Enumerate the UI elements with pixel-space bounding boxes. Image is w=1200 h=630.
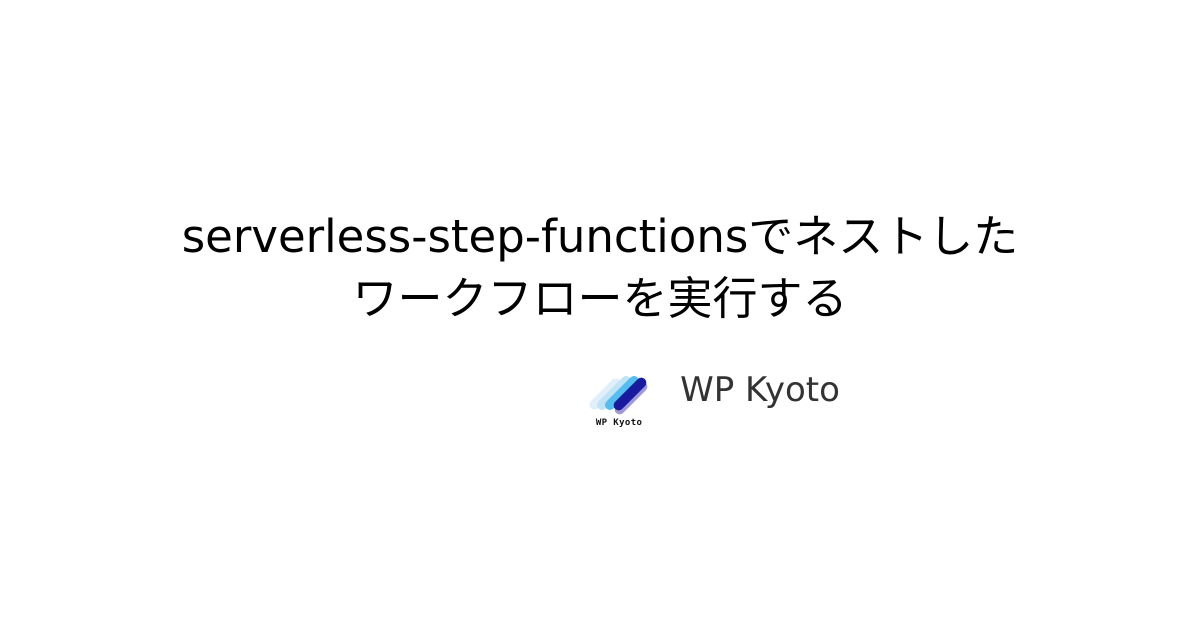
logo-caption: WP Kyoto: [588, 418, 650, 428]
brand-logo: WP Kyoto: [588, 366, 650, 442]
site-name: WP Kyoto: [680, 366, 840, 414]
page-title: serverless-step-functionsでネストした ワークフローを実…: [0, 206, 1200, 330]
branding-group: WP Kyoto WP Kyoto: [588, 366, 840, 442]
branding-footer: WP Kyoto WP Kyoto: [0, 366, 1200, 442]
title-line-1: serverless-step-functionsでネストした: [0, 206, 1200, 268]
title-line-2: ワークフローを実行する: [0, 268, 1200, 330]
open-graph-card: serverless-step-functionsでネストした ワークフローを実…: [0, 0, 1200, 630]
wp-kyoto-logo-icon: [588, 366, 650, 420]
